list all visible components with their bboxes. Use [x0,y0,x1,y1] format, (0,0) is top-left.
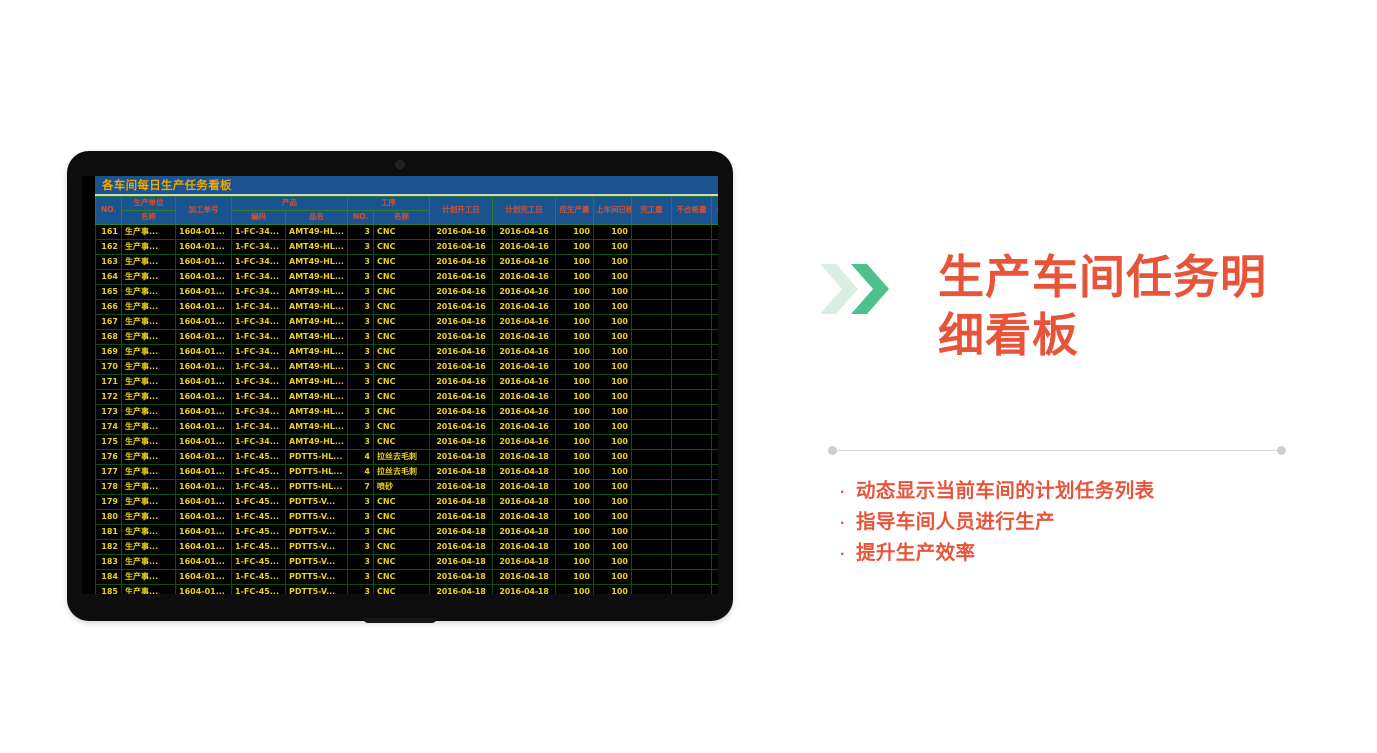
device-screen: 各车间每日生产任务看板 NO. 生产单位 加工单号 [82,176,718,594]
cell-产品品名: PDTT5-V... [286,525,348,540]
cell-生产单位名称: 生产事... [122,540,176,555]
cell-应生产量: 100 [556,300,594,315]
cell-生产单位名称: 生产事... [122,240,176,255]
th-process-group[interactable]: 工序 [348,197,430,211]
cell-计划完工日: 2016-04-16 [493,240,556,255]
cell-产品编码: 1-FC-45... [232,525,286,540]
divider-line [837,450,1277,451]
cell-NO.: 176 [96,450,122,465]
cell-工序名称: CNC [374,510,430,525]
divider-dot-right [1277,446,1286,455]
list-item: ·动态显示当前车间的计划任务列表 [840,476,1310,507]
cell-产品编码: 1-FC-34... [232,225,286,240]
cell-产品编码: 1-FC-45... [232,510,286,525]
divider-dot-left [828,446,837,455]
cell-工序NO.: 3 [348,330,374,345]
cell-加工单号: 1604-01... [176,585,232,595]
table-row[interactable]: 182生产事...1604-01...1-FC-45...PDTT5-V...3… [96,540,719,555]
cell-计划完工日: 2016-04-16 [493,405,556,420]
cell-工序NO.: 7 [348,480,374,495]
cell-应生产量: 100 [556,480,594,495]
cell-计划开工日: 2016-04-16 [430,300,493,315]
cell-工序名称: CNC [374,285,430,300]
th-product-code[interactable]: 编码 [232,211,286,225]
cell-加工单号: 1604-01... [176,540,232,555]
cell-上车间已移转量: 100 [594,330,632,345]
cell-工序名称: CNC [374,570,430,585]
cell-计划开工日: 2016-04-16 [430,390,493,405]
cell-完工量 [632,525,672,540]
cell-生产单位名称: 生产事... [122,315,176,330]
table-row[interactable]: 184生产事...1604-01...1-FC-45...PDTT5-V...3… [96,570,719,585]
cell-计划完工日: 2016-04-16 [493,270,556,285]
cell-计划开工日: 2016-04-18 [430,450,493,465]
cell-未完成量: 100 [712,495,719,510]
cell-上车间已移转量: 100 [594,300,632,315]
cell-NO.: 168 [96,330,122,345]
cell-不合格量 [672,420,712,435]
cell-未完成量: 100 [712,240,719,255]
th-product-group[interactable]: 产品 [232,197,348,211]
cell-生产单位名称: 生产事... [122,525,176,540]
cell-生产单位名称: 生产事... [122,390,176,405]
cell-NO.: 162 [96,240,122,255]
table-row[interactable]: 169生产事...1604-01...1-FC-34...AMT49-HL...… [96,345,719,360]
th-required-qty[interactable]: 应生产量 [556,197,594,225]
table-row[interactable]: 166生产事...1604-01...1-FC-34...AMT49-HL...… [96,300,719,315]
cell-计划完工日: 2016-04-16 [493,360,556,375]
bullet-text: 动态显示当前车间的计划任务列表 [856,476,1155,507]
cell-产品编码: 1-FC-45... [232,570,286,585]
cell-工序名称: CNC [374,315,430,330]
cell-加工单号: 1604-01... [176,420,232,435]
header-group-row: NO. 生产单位 加工单号 产品 工序 计划开工日 计划完工日 应生产量 上车间… [96,197,719,211]
bullet-text: 指导车间人员进行生产 [856,507,1055,538]
board-title: 各车间每日生产任务看板 [95,176,718,196]
cell-工序NO.: 3 [348,420,374,435]
cell-上车间已移转量: 100 [594,345,632,360]
cell-未完成量: 100 [712,570,719,585]
cell-应生产量: 100 [556,585,594,595]
cell-NO.: 174 [96,420,122,435]
cell-应生产量: 100 [556,570,594,585]
cell-完工量 [632,300,672,315]
table-row[interactable]: 172生产事...1604-01...1-FC-34...AMT49-HL...… [96,390,719,405]
cell-产品品名: AMT49-HL... [286,390,348,405]
cell-未完成量: 100 [712,405,719,420]
cell-加工单号: 1604-01... [176,255,232,270]
th-completed-qty[interactable]: 完工量 [632,197,672,225]
th-defect-qty[interactable]: 不合格量 [672,197,712,225]
cell-产品品名: PDTT5-HL... [286,465,348,480]
table-row[interactable]: 177生产事...1604-01...1-FC-45...PDTT5-HL...… [96,465,719,480]
th-product-name[interactable]: 品名 [286,211,348,225]
cell-计划开工日: 2016-04-18 [430,495,493,510]
cell-NO.: 170 [96,360,122,375]
cell-计划开工日: 2016-04-18 [430,585,493,595]
cell-加工单号: 1604-01... [176,570,232,585]
cell-应生产量: 100 [556,465,594,480]
production-task-table: NO. 生产单位 加工单号 产品 工序 计划开工日 计划完工日 应生产量 上车间… [95,196,718,594]
table-row[interactable]: 164生产事...1604-01...1-FC-34...AMT49-HL...… [96,270,719,285]
cell-工序名称: CNC [374,345,430,360]
cell-未完成量: 100 [712,270,719,285]
cell-不合格量 [672,345,712,360]
cell-工序名称: CNC [374,435,430,450]
cell-加工单号: 1604-01... [176,555,232,570]
cell-NO.: 169 [96,345,122,360]
cell-工序NO.: 3 [348,585,374,595]
cell-完工量 [632,315,672,330]
cell-计划开工日: 2016-04-16 [430,270,493,285]
bullet-marker-icon: · [840,547,856,563]
cell-产品品名: PDTT5-V... [286,570,348,585]
cell-工序NO.: 3 [348,555,374,570]
cell-计划完工日: 2016-04-18 [493,450,556,465]
cell-不合格量 [672,585,712,595]
cell-生产单位名称: 生产事... [122,570,176,585]
headline-row: 生产车间任务明细看板 [818,248,1318,365]
table-row[interactable]: 161生产事...1604-01...1-FC-34...AMT49-HL...… [96,225,719,240]
cell-生产单位名称: 生产事... [122,255,176,270]
cell-未完成量: 100 [712,480,719,495]
cell-加工单号: 1604-01... [176,345,232,360]
cell-计划开工日: 2016-04-18 [430,525,493,540]
cell-产品编码: 1-FC-45... [232,495,286,510]
cell-产品编码: 1-FC-34... [232,240,286,255]
cell-计划开工日: 2016-04-16 [430,405,493,420]
section-divider [828,446,1286,455]
table-row[interactable]: 180生产事...1604-01...1-FC-45...PDTT5-V...3… [96,510,719,525]
table-row[interactable]: 171生产事...1604-01...1-FC-34...AMT49-HL...… [96,375,719,390]
cell-应生产量: 100 [556,270,594,285]
cell-产品品名: AMT49-HL... [286,345,348,360]
cell-计划开工日: 2016-04-18 [430,480,493,495]
cell-加工单号: 1604-01... [176,525,232,540]
cell-NO.: 172 [96,390,122,405]
cell-工序名称: CNC [374,405,430,420]
cell-上车间已移转量: 100 [594,270,632,285]
cell-加工单号: 1604-01... [176,480,232,495]
cell-完工量 [632,465,672,480]
cell-完工量 [632,585,672,595]
cell-加工单号: 1604-01... [176,450,232,465]
device-foot [363,618,437,623]
cell-生产单位名称: 生产事... [122,450,176,465]
cell-计划完工日: 2016-04-18 [493,570,556,585]
bullet-marker-icon: · [840,516,856,532]
cell-完工量 [632,555,672,570]
cell-工序NO.: 3 [348,390,374,405]
cell-产品编码: 1-FC-34... [232,405,286,420]
cell-上车间已移转量: 100 [594,375,632,390]
cell-产品编码: 1-FC-34... [232,420,286,435]
cell-未完成量: 100 [712,450,719,465]
cell-计划开工日: 2016-04-16 [430,420,493,435]
cell-计划完工日: 2016-04-16 [493,330,556,345]
cell-不合格量 [672,255,712,270]
cell-工序NO.: 3 [348,375,374,390]
cell-工序NO.: 3 [348,225,374,240]
cell-工序NO.: 3 [348,345,374,360]
cell-未完成量: 100 [712,300,719,315]
table-row[interactable]: 183生产事...1604-01...1-FC-45...PDTT5-V...3… [96,555,719,570]
cell-产品品名: AMT49-HL... [286,225,348,240]
cell-产品品名: PDTT5-HL... [286,450,348,465]
table-header: NO. 生产单位 加工单号 产品 工序 计划开工日 计划完工日 应生产量 上车间… [96,197,719,225]
cell-应生产量: 100 [556,285,594,300]
cell-完工量 [632,390,672,405]
cell-产品品名: AMT49-HL... [286,405,348,420]
cell-未完成量: 100 [712,525,719,540]
cell-计划完工日: 2016-04-18 [493,540,556,555]
cell-产品编码: 1-FC-34... [232,360,286,375]
table-row[interactable]: 162生产事...1604-01...1-FC-34...AMT49-HL...… [96,240,719,255]
cell-计划完工日: 2016-04-18 [493,585,556,595]
cell-计划完工日: 2016-04-16 [493,300,556,315]
cell-NO.: 161 [96,225,122,240]
list-item: ·提升生产效率 [840,538,1310,569]
cell-应生产量: 100 [556,405,594,420]
th-process-name[interactable]: 名称 [374,211,430,225]
cell-工序名称: 喷砂 [374,480,430,495]
cell-生产单位名称: 生产事... [122,360,176,375]
cell-应生产量: 100 [556,510,594,525]
cell-应生产量: 100 [556,375,594,390]
cell-产品编码: 1-FC-34... [232,345,286,360]
cell-计划开工日: 2016-04-16 [430,225,493,240]
cell-应生产量: 100 [556,435,594,450]
cell-产品编码: 1-FC-34... [232,390,286,405]
cell-生产单位名称: 生产事... [122,225,176,240]
cell-不合格量 [672,225,712,240]
cell-未完成量: 100 [712,315,719,330]
th-plan-end[interactable]: 计划完工日 [493,197,556,225]
cell-工序NO.: 3 [348,525,374,540]
cell-工序NO.: 3 [348,360,374,375]
cell-上车间已移转量: 100 [594,540,632,555]
th-unfinished-qty[interactable]: 未完成量 [712,197,719,225]
content-panel: 生产车间任务明细看板 ·动态显示当前车间的计划任务列表·指导车间人员进行生产·提… [818,248,1318,365]
cell-应生产量: 100 [556,540,594,555]
cell-计划开工日: 2016-04-16 [430,345,493,360]
cell-NO.: 164 [96,270,122,285]
cell-完工量 [632,375,672,390]
table-row[interactable]: 176生产事...1604-01...1-FC-45...PDTT5-HL...… [96,450,719,465]
cell-应生产量: 100 [556,255,594,270]
cell-工序名称: CNC [374,420,430,435]
cell-NO.: 180 [96,510,122,525]
cell-生产单位名称: 生产事... [122,285,176,300]
cell-计划开工日: 2016-04-16 [430,240,493,255]
th-plan-start[interactable]: 计划开工日 [430,197,493,225]
cell-产品编码: 1-FC-45... [232,480,286,495]
cell-不合格量 [672,540,712,555]
cell-不合格量 [672,300,712,315]
cell-加工单号: 1604-01... [176,240,232,255]
cell-计划完工日: 2016-04-16 [493,420,556,435]
cell-工序名称: CNC [374,555,430,570]
cell-产品编码: 1-FC-34... [232,255,286,270]
cell-工序名称: CNC [374,360,430,375]
cell-加工单号: 1604-01... [176,465,232,480]
cell-不合格量 [672,525,712,540]
cell-未完成量: 100 [712,390,719,405]
laptop-device: 各车间每日生产任务看板 NO. 生产单位 加工单号 [67,151,733,621]
table-row[interactable]: 174生产事...1604-01...1-FC-34...AMT49-HL...… [96,420,719,435]
th-unit-group[interactable]: 生产单位 [122,197,176,211]
cell-计划开工日: 2016-04-16 [430,435,493,450]
cell-生产单位名称: 生产事... [122,555,176,570]
th-process-no[interactable]: NO. [348,211,374,225]
cell-上车间已移转量: 100 [594,315,632,330]
th-no[interactable]: NO. [96,197,122,225]
cell-上车间已移转量: 100 [594,570,632,585]
cell-工序NO.: 3 [348,495,374,510]
table-row[interactable]: 181生产事...1604-01...1-FC-45...PDTT5-V...3… [96,525,719,540]
cell-工序名称: CNC [374,300,430,315]
cell-产品编码: 1-FC-34... [232,300,286,315]
cell-加工单号: 1604-01... [176,300,232,315]
cell-应生产量: 100 [556,525,594,540]
cell-计划开工日: 2016-04-16 [430,315,493,330]
cell-工序名称: CNC [374,540,430,555]
cell-上车间已移转量: 100 [594,510,632,525]
cell-工序名称: CNC [374,270,430,285]
cell-完工量 [632,240,672,255]
cell-未完成量: 100 [712,345,719,360]
cell-NO.: 163 [96,255,122,270]
cell-上车间已移转量: 100 [594,420,632,435]
cell-产品编码: 1-FC-34... [232,285,286,300]
cell-生产单位名称: 生产事... [122,480,176,495]
bullet-marker-icon: · [840,485,856,501]
cell-应生产量: 100 [556,360,594,375]
cell-完工量 [632,405,672,420]
cell-上车间已移转量: 100 [594,225,632,240]
cell-产品品名: PDTT5-V... [286,510,348,525]
cell-计划开工日: 2016-04-18 [430,540,493,555]
cell-应生产量: 100 [556,390,594,405]
production-dashboard: 各车间每日生产任务看板 NO. 生产单位 加工单号 [95,176,718,594]
slide-canvas: 各车间每日生产任务看板 NO. 生产单位 加工单号 [0,0,1377,753]
table-row[interactable]: 163生产事...1604-01...1-FC-34...AMT49-HL...… [96,255,719,270]
cell-计划完工日: 2016-04-18 [493,495,556,510]
cell-产品编码: 1-FC-45... [232,585,286,595]
cell-产品品名: AMT49-HL... [286,330,348,345]
table-body: 161生产事...1604-01...1-FC-34...AMT49-HL...… [96,225,719,595]
cell-不合格量 [672,480,712,495]
th-transferred-qty[interactable]: 上车间已移转量 [594,197,632,225]
cell-生产单位名称: 生产事... [122,405,176,420]
th-unit-name[interactable]: 名称 [122,211,176,225]
table-row[interactable]: 175生产事...1604-01...1-FC-34...AMT49-HL...… [96,435,719,450]
cell-生产单位名称: 生产事... [122,510,176,525]
list-item: ·指导车间人员进行生产 [840,507,1310,538]
table-row[interactable]: 185生产事...1604-01...1-FC-45...PDTT5-V...3… [96,585,719,595]
cell-完工量 [632,480,672,495]
cell-上车间已移转量: 100 [594,285,632,300]
table-row[interactable]: 173生产事...1604-01...1-FC-34...AMT49-HL...… [96,405,719,420]
cell-产品编码: 1-FC-34... [232,435,286,450]
cell-完工量 [632,420,672,435]
cell-未完成量: 100 [712,285,719,300]
page-title: 生产车间任务明细看板 [938,248,1298,365]
cell-产品编码: 1-FC-45... [232,465,286,480]
cell-NO.: 183 [96,555,122,570]
cell-工序NO.: 3 [348,510,374,525]
table-row[interactable]: 168生产事...1604-01...1-FC-34...AMT49-HL...… [96,330,719,345]
cell-加工单号: 1604-01... [176,495,232,510]
cell-NO.: 167 [96,315,122,330]
cell-工序名称: CNC [374,390,430,405]
cell-生产单位名称: 生产事... [122,345,176,360]
cell-NO.: 166 [96,300,122,315]
cell-上车间已移转量: 100 [594,555,632,570]
cell-完工量 [632,330,672,345]
cell-生产单位名称: 生产事... [122,495,176,510]
cell-不合格量 [672,570,712,585]
cell-应生产量: 100 [556,450,594,465]
cell-NO.: 173 [96,405,122,420]
table-row[interactable]: 170生产事...1604-01...1-FC-34...AMT49-HL...… [96,360,719,375]
table-row[interactable]: 179生产事...1604-01...1-FC-45...PDTT5-V...3… [96,495,719,510]
cell-产品编码: 1-FC-34... [232,315,286,330]
cell-应生产量: 100 [556,330,594,345]
th-order-no[interactable]: 加工单号 [176,197,232,225]
cell-计划完工日: 2016-04-18 [493,510,556,525]
cell-产品品名: AMT49-HL... [286,420,348,435]
cell-NO.: 179 [96,495,122,510]
cell-上车间已移转量: 100 [594,525,632,540]
cell-计划完工日: 2016-04-18 [493,480,556,495]
cell-上车间已移转量: 100 [594,240,632,255]
cell-NO.: 181 [96,525,122,540]
table-row[interactable]: 165生产事...1604-01...1-FC-34...AMT49-HL...… [96,285,719,300]
cell-工序名称: CNC [374,495,430,510]
cell-NO.: 177 [96,465,122,480]
cell-加工单号: 1604-01... [176,225,232,240]
cell-计划开工日: 2016-04-16 [430,255,493,270]
cell-工序NO.: 3 [348,240,374,255]
cell-工序名称: CNC [374,330,430,345]
cell-未完成量: 100 [712,465,719,480]
cell-工序NO.: 4 [348,450,374,465]
cell-计划完工日: 2016-04-16 [493,255,556,270]
cell-工序名称: CNC [374,375,430,390]
cell-产品编码: 1-FC-45... [232,540,286,555]
cell-计划完工日: 2016-04-18 [493,555,556,570]
cell-应生产量: 100 [556,345,594,360]
cell-未完成量: 100 [712,255,719,270]
cell-上车间已移转量: 100 [594,435,632,450]
cell-应生产量: 100 [556,315,594,330]
cell-工序名称: CNC [374,240,430,255]
cell-不合格量 [672,375,712,390]
cell-上车间已移转量: 100 [594,480,632,495]
cell-工序NO.: 3 [348,300,374,315]
cell-不合格量 [672,435,712,450]
cell-加工单号: 1604-01... [176,330,232,345]
cell-计划开工日: 2016-04-16 [430,360,493,375]
table-row[interactable]: 167生产事...1604-01...1-FC-34...AMT49-HL...… [96,315,719,330]
cell-不合格量 [672,495,712,510]
cell-产品品名: AMT49-HL... [286,375,348,390]
cell-工序NO.: 4 [348,465,374,480]
cell-工序名称: 拉丝去毛刺 [374,465,430,480]
cell-产品编码: 1-FC-45... [232,450,286,465]
table-row[interactable]: 178生产事...1604-01...1-FC-45...PDTT5-HL...… [96,480,719,495]
